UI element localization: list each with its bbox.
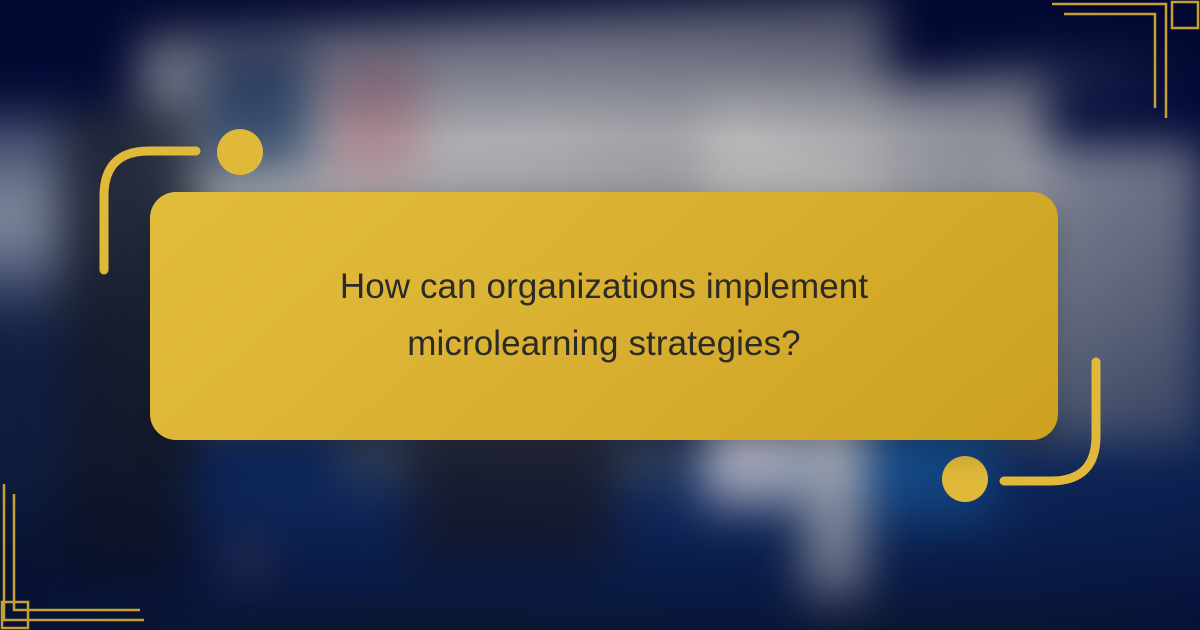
question-text: How can organizations implement microlea… [294, 259, 914, 372]
question-card-graphic: How can organizations implement microlea… [0, 0, 1200, 630]
question-card: How can organizations implement microlea… [150, 192, 1058, 440]
